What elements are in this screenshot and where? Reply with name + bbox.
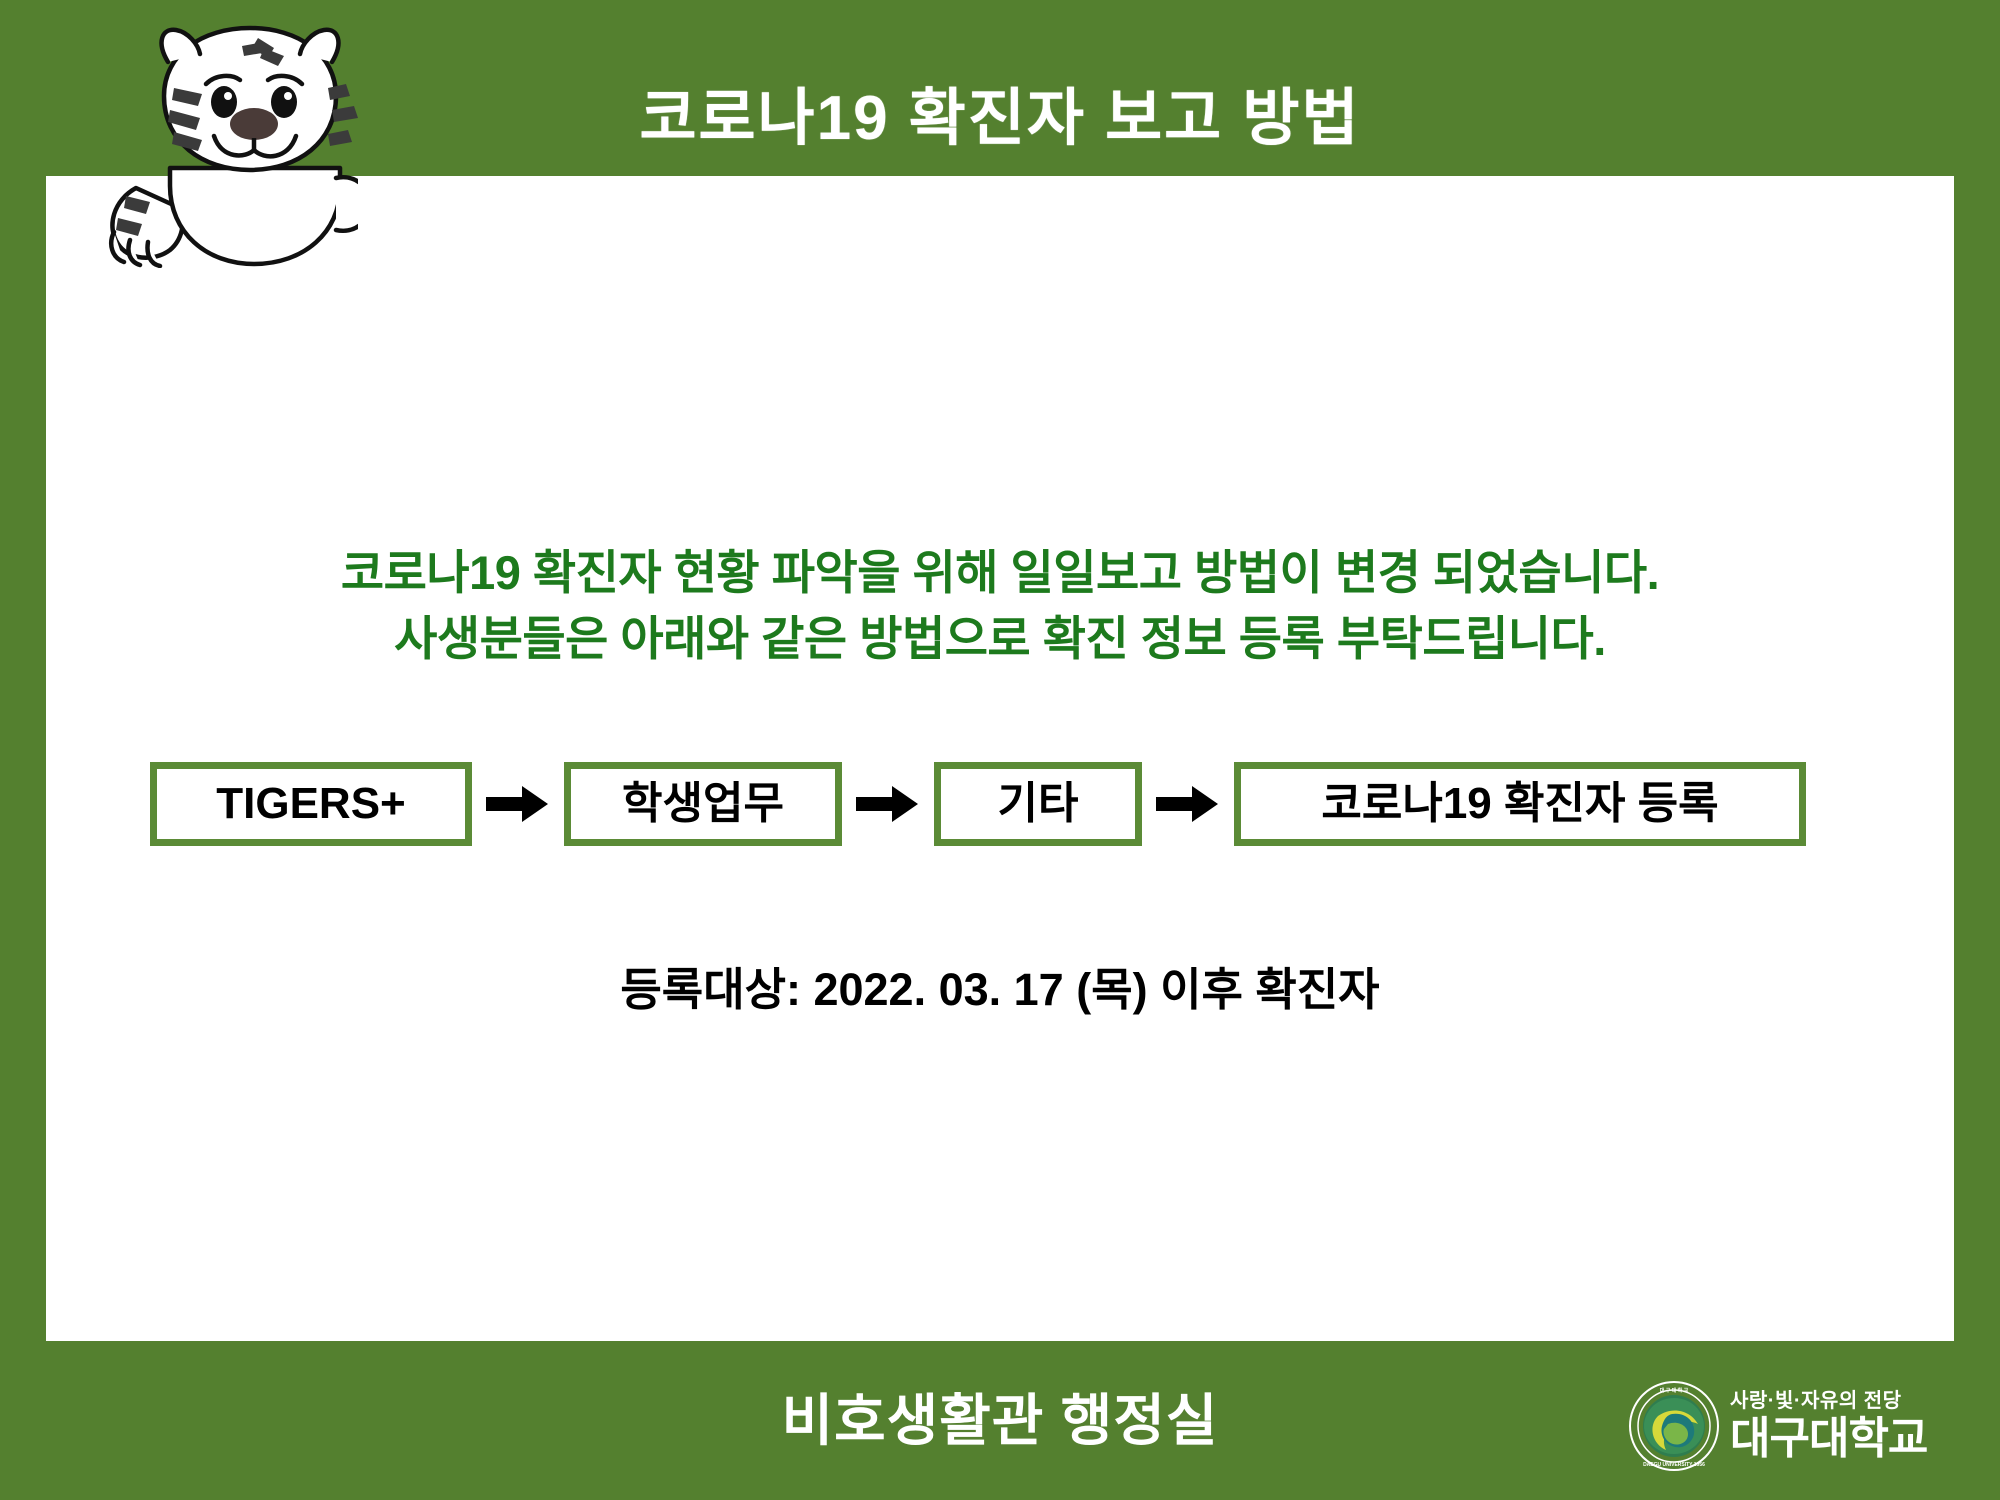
brand-tagline: 사랑·빛·자유의 전당	[1730, 1391, 1927, 1411]
svg-text:DAEGU UNIVERSITY 1956: DAEGU UNIVERSITY 1956	[1643, 1462, 1705, 1468]
report-flow-diagram: TIGERS+ 학생업무 기타 코로나19 확진자 등록	[150, 762, 1870, 846]
daegu-university-emblem-icon: 대 구 대 학 교 DAEGU UNIVERSITY 1956	[1628, 1380, 1720, 1472]
page-title: 코로나19 확진자 보고 방법	[639, 88, 1360, 150]
arrow-right-icon	[472, 762, 564, 846]
flow-step-etc[interactable]: 기타	[934, 762, 1142, 846]
registration-target-text: 등록대상: 2022. 03. 17 (목) 이후 확진자	[46, 953, 1954, 1018]
white-tiger-mascot-icon	[78, 18, 358, 268]
flow-step-covid19-registration[interactable]: 코로나19 확진자 등록	[1234, 762, 1806, 846]
university-brand: 대 구 대 학 교 DAEGU UNIVERSITY 1956 사랑·빛·자유의…	[1628, 1372, 1958, 1480]
brand-name: 대구대학교	[1730, 1417, 1927, 1461]
content-panel	[46, 176, 1954, 1341]
notice-body-line-1: 코로나19 확진자 현황 파악을 위해 일일보고 방법이 변경 되었습니다.	[46, 540, 1954, 606]
arrow-right-icon	[842, 762, 934, 846]
arrow-right-icon	[1142, 762, 1234, 846]
notice-body: 코로나19 확진자 현황 파악을 위해 일일보고 방법이 변경 되었습니다. 사…	[46, 540, 1954, 672]
poster-root: 코로나19 확진자 보고 방법	[0, 0, 2000, 1500]
brand-text-group: 사랑·빛·자유의 전당 대구대학교	[1730, 1391, 1927, 1461]
svg-text:대 구 대 학 교: 대 구 대 학 교	[1660, 1387, 1689, 1394]
notice-body-line-2: 사생분들은 아래와 같은 방법으로 확진 정보 등록 부탁드립니다.	[46, 606, 1954, 672]
flow-step-student-affairs[interactable]: 학생업무	[564, 762, 842, 846]
flow-step-tigers-plus[interactable]: TIGERS+	[150, 762, 472, 846]
